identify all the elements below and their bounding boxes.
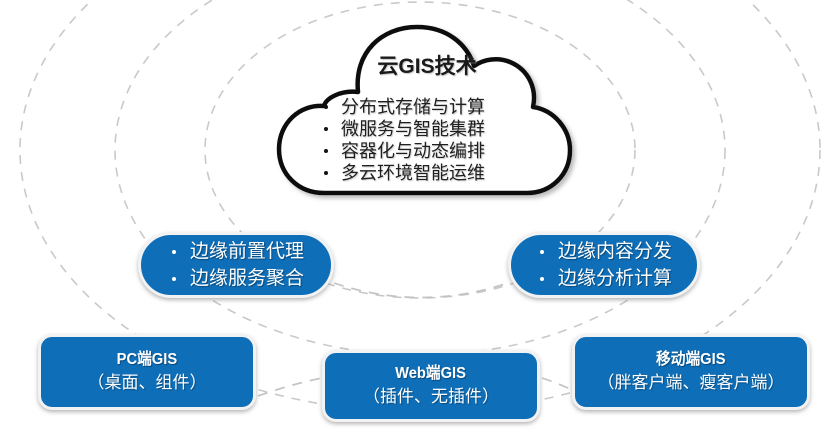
web-gis-subtitle: （插件、无插件） (363, 385, 499, 409)
edge-right-item: 边缘分析计算 (536, 265, 672, 292)
cloud-feature-item: 微服务与智能集群 (320, 118, 550, 140)
client-node-web-gis[interactable]: Web端GIS （插件、无插件） (322, 350, 540, 422)
cloud-feature-item: 容器化与动态编排 (320, 140, 550, 162)
connector-pc-to-web (258, 378, 322, 396)
edge-right-item: 边缘内容分发 (536, 238, 672, 265)
cloud-feature-list: 分布式存储与计算 微服务与智能集群 容器化与动态编排 多云环境智能运维 (320, 96, 550, 184)
client-node-pc-gis[interactable]: PC端GIS （桌面、组件） (38, 334, 256, 410)
client-node-mobile-gis[interactable]: 移动端GIS （胖客户端、瘦客户端） (572, 334, 810, 410)
edge-left-list: 边缘前置代理 边缘服务聚合 (168, 238, 304, 292)
cloud-node[interactable]: 云GIS技术 分布式存储与计算 微服务与智能集群 容器化与动态编排 多云环境智能… (262, 16, 592, 206)
cloud-feature-item: 分布式存储与计算 (320, 96, 550, 118)
edge-node-left[interactable]: 边缘前置代理 边缘服务聚合 (138, 232, 334, 298)
pc-gis-subtitle: （桌面、组件） (88, 371, 207, 395)
edge-left-item: 边缘前置代理 (168, 238, 304, 265)
diagram-canvas: 云GIS技术 分布式存储与计算 微服务与智能集群 容器化与动态编排 多云环境智能… (0, 0, 840, 436)
web-gis-title: Web端GIS (396, 363, 467, 385)
edge-right-list: 边缘内容分发 边缘分析计算 (536, 238, 672, 292)
connector-web-to-mobile (542, 378, 572, 390)
edge-node-right[interactable]: 边缘内容分发 边缘分析计算 (508, 232, 700, 298)
mobile-gis-title: 移动端GIS (656, 349, 726, 371)
pc-gis-title: PC端GIS (117, 349, 178, 371)
edge-left-item: 边缘服务聚合 (168, 265, 304, 292)
connector-edge-left-to-right (334, 283, 508, 298)
cloud-heading: 云GIS技术 (262, 50, 592, 80)
cloud-feature-item: 多云环境智能运维 (320, 162, 550, 184)
mobile-gis-subtitle: （胖客户端、瘦客户端） (598, 371, 785, 395)
